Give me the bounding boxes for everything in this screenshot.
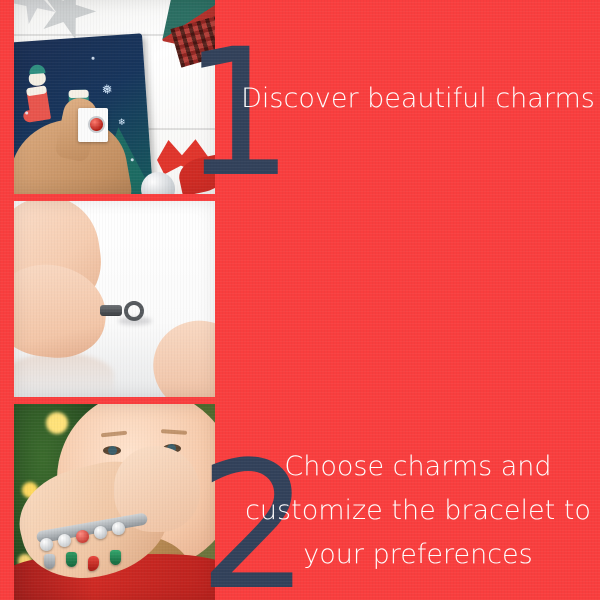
silver-bead bbox=[94, 526, 107, 539]
caption-line: your preferences bbox=[236, 533, 600, 577]
step-2-caption: Choose charms and customize the bracelet… bbox=[236, 445, 600, 577]
caption-line: customize the bracelet to bbox=[236, 489, 600, 533]
stocking-icon bbox=[26, 85, 51, 122]
bear-icon bbox=[28, 70, 46, 86]
green-tree-charm bbox=[110, 550, 121, 565]
charm-clasp-icon bbox=[100, 305, 122, 316]
step-2-row: 2 Choose charms and customize the bracel… bbox=[0, 201, 600, 397]
eyebrow bbox=[161, 429, 187, 435]
red-charm-bead bbox=[88, 116, 105, 133]
red-bead bbox=[76, 530, 89, 543]
iris bbox=[108, 446, 117, 455]
infographic-page: ❅ ❅ ❄ 1 Discover beautiful charms bbox=[0, 0, 600, 600]
surface-reflection bbox=[14, 353, 114, 397]
green-tree-charm bbox=[66, 552, 77, 567]
silver-bead bbox=[40, 538, 53, 551]
silver-charm bbox=[44, 554, 55, 569]
step-2-photo bbox=[14, 201, 215, 397]
snow-dot-icon bbox=[91, 57, 94, 60]
snowflake-icon: ❄ bbox=[118, 119, 126, 129]
caption-line: Choose charms and bbox=[236, 445, 600, 489]
caption-line: Discover beautiful charms bbox=[236, 80, 600, 118]
eye bbox=[103, 446, 121, 455]
silver-bead bbox=[112, 522, 125, 535]
eyebrow bbox=[101, 431, 127, 438]
snowflake-icon: ❅ bbox=[101, 84, 113, 98]
jump-ring-icon bbox=[124, 301, 144, 321]
step-3-photo bbox=[14, 404, 215, 600]
step-1-caption: Discover beautiful charms bbox=[236, 80, 600, 118]
step-1-row: ❅ ❅ ❄ 1 Discover beautiful charms bbox=[0, 0, 600, 194]
bokeh-light-icon bbox=[46, 412, 68, 434]
silver-bead bbox=[58, 534, 71, 547]
